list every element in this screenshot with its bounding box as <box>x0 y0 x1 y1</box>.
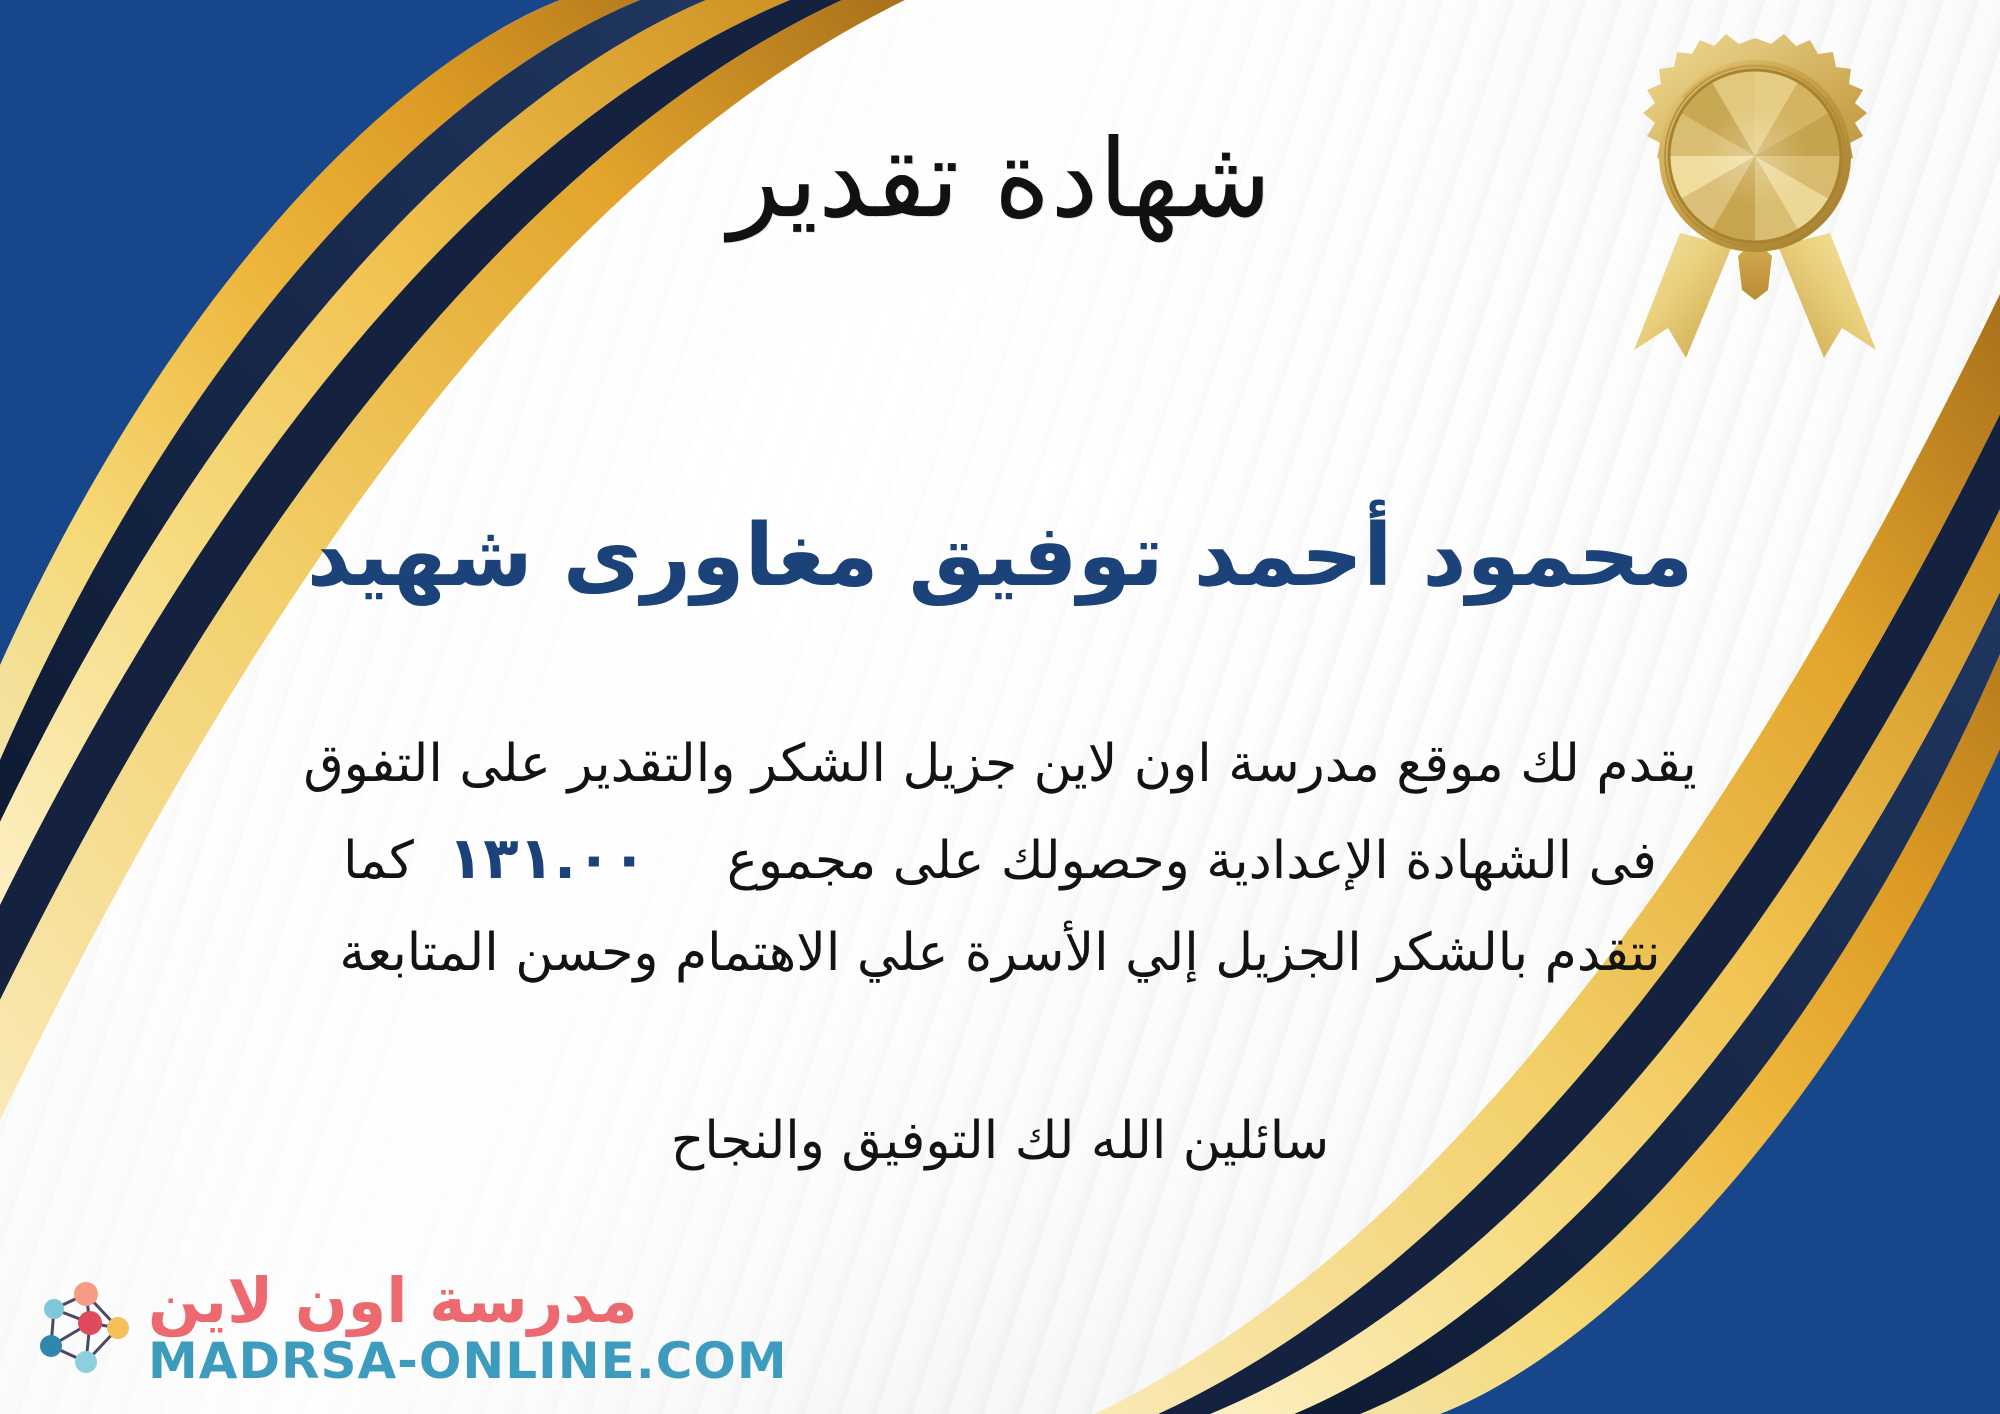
body-line-2: فى الشهادة الإعدادية وحصولك على مجموع١٣١… <box>70 809 1930 909</box>
body-line-2-prefix: فى الشهادة الإعدادية وحصولك على مجموع <box>727 831 1657 891</box>
page-title: شهادة تقدير <box>0 118 2000 242</box>
body-line-3: نتقدم بالشكر الجزيل إلي الأسرة علي الاهت… <box>70 909 1930 998</box>
certificate-content: شهادة تقدير محمود أحمد توفيق مغاورى شهيد… <box>0 0 2000 1414</box>
network-nodes-icon <box>34 1276 134 1380</box>
grade-total-value: ١٣١.٠٠ <box>414 824 681 892</box>
body-line-1: يقدم لك موقع مدرسة اون لاين جزيل الشكر و… <box>70 720 1930 809</box>
recipient-name: محمود أحمد توفيق مغاورى شهيد <box>0 505 2000 608</box>
brand-wordmark: مدرسة اون لاين MADRSA-ONLINE.COM <box>148 1270 788 1386</box>
closing-line: سائلين الله لك التوفيق والنجاح <box>0 1100 2000 1183</box>
brand-logo[interactable]: مدرسة اون لاين MADRSA-ONLINE.COM <box>34 1270 788 1386</box>
certificate-body: يقدم لك موقع مدرسة اون لاين جزيل الشكر و… <box>70 720 1930 999</box>
brand-website: MADRSA-ONLINE.COM <box>148 1336 788 1386</box>
brand-arabic-name: مدرسة اون لاين <box>148 1270 638 1332</box>
body-line-2-suffix: كما <box>343 831 414 891</box>
certificate-page: شهادة تقدير محمود أحمد توفيق مغاورى شهيد… <box>0 0 2000 1414</box>
